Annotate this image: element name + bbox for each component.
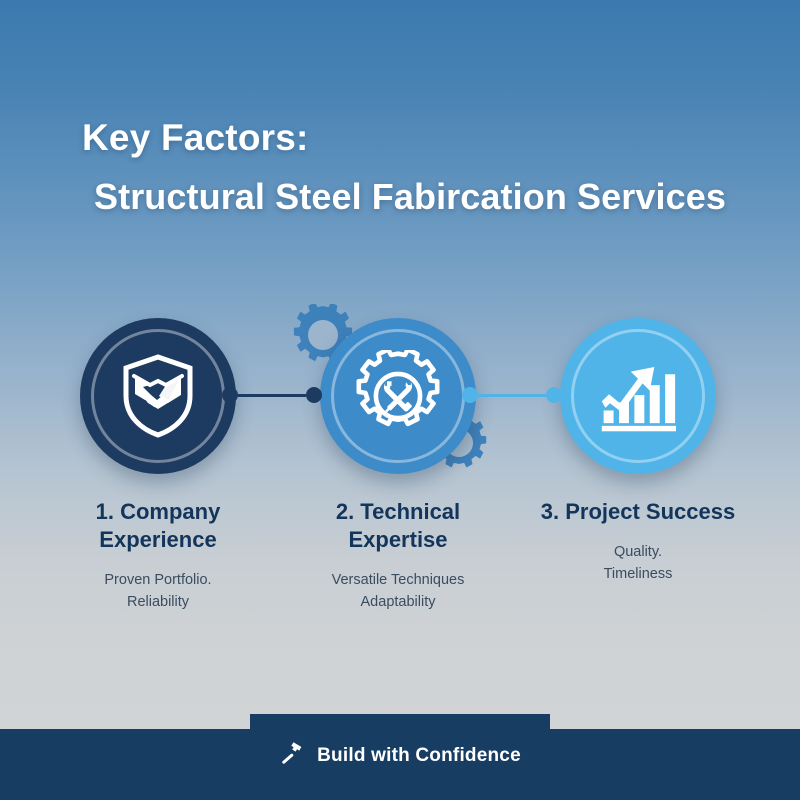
step-2-title: 2. Technical Expertise [278,498,518,554]
step-3-subtitle-line-2: Timeliness [528,564,748,585]
connector-step2-step3 [462,386,562,404]
step-1-subtitle: Proven Portfolio. Reliability [38,570,278,613]
connector-step1-step2 [222,386,322,404]
step-3-circle [560,318,716,474]
connector-line [238,394,306,397]
step-2-subtitle-line-2: Adaptability [288,592,508,613]
connector-dot-left [222,387,238,403]
gear-tools-icon [352,350,444,442]
infographic-poster: Key Factors: Structural Steel Fabircatio… [0,0,800,800]
steps-row: 1. Company Experience Proven Portfolio. … [0,300,800,620]
step-1-subtitle-line-1: Proven Portfolio. [48,570,268,591]
step-company-experience: 1. Company Experience Proven Portfolio. … [38,300,278,613]
footer-banner: Build with Confidence [0,729,800,800]
step-3-subtitle-line-1: Quality. [528,542,748,563]
poster-heading: Key Factors: Structural Steel Fabircatio… [82,118,742,216]
step-3-title: 3. Project Success [518,498,758,526]
step-3-subtitle: Quality. Timeliness [518,542,758,585]
footer-text: Build with Confidence [317,745,521,767]
connector-dot-right [546,387,562,403]
step-2-subtitle: Versatile Techniques Adaptability [278,570,518,613]
step-1-circle [80,318,236,474]
shield-handshake-icon [121,354,195,438]
heading-line-1: Key Factors: [82,118,742,159]
hammer-icon [279,740,305,771]
connector-dot-right [306,387,322,403]
connector-dot-left [462,387,478,403]
heading-line-2: Structural Steel Fabircation Services [94,177,742,217]
growth-bar-chart-icon [596,358,680,434]
step-1-subtitle-line-2: Reliability [48,592,268,613]
step-2-subtitle-line-1: Versatile Techniques [288,570,508,591]
step-technical-expertise: 2. Technical Expertise Versatile Techniq… [278,300,518,613]
connector-line [478,394,546,397]
step-project-success: 3. Project Success Quality. Timeliness [518,300,758,585]
step-1-title: 1. Company Experience [38,498,278,554]
step-2-circle [320,318,476,474]
